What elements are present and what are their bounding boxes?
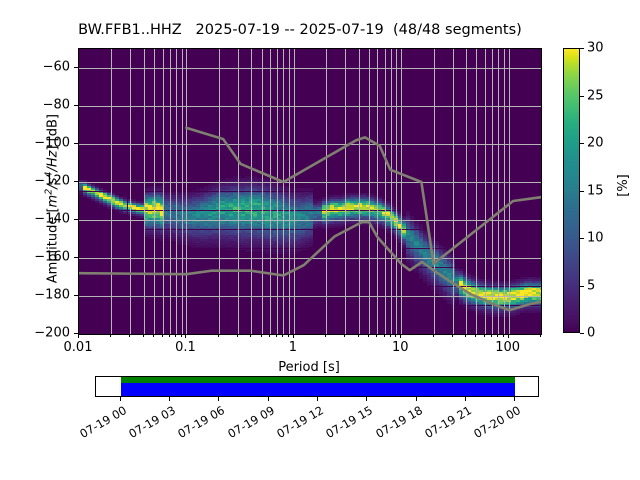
page-title: BW.FFB1..HHZ 2025-07-19 -- 2025-07-19 (4… — [0, 22, 600, 38]
coverage-tick — [120, 397, 121, 401]
coverage-tick — [366, 397, 367, 401]
y-axis-label: Amplitude [m2/s4/Hz] [dB] — [43, 69, 60, 329]
y-axis-label-exp-2: 2 — [43, 189, 54, 195]
x-tick-minor — [325, 334, 326, 337]
colorbar-tick-label: 30 — [587, 41, 604, 56]
coverage-tick-label: 07-20 00 — [463, 403, 524, 446]
coverage-tick — [514, 397, 515, 401]
x-tick-label: 10 — [392, 340, 409, 355]
x-tick-minor — [368, 334, 369, 337]
colorbar-tick-label: 0 — [587, 326, 595, 341]
x-tick-minor — [218, 334, 219, 337]
y-tick — [74, 295, 78, 296]
colorbar-tick — [580, 333, 584, 334]
x-tick-minor — [452, 334, 453, 337]
x-tick-minor — [185, 334, 186, 338]
coverage-tick-label: 07-19 00 — [68, 403, 129, 446]
x-tick-minor — [508, 334, 509, 338]
y-tick — [74, 333, 78, 334]
x-axis-label: Period [s] — [78, 360, 540, 375]
colorbar-tick — [580, 48, 584, 49]
x-tick-minor — [475, 334, 476, 337]
colorbar-tick — [580, 191, 584, 192]
x-tick-minor — [282, 334, 283, 337]
y-tick — [74, 181, 78, 182]
coverage-tick — [169, 397, 170, 401]
x-tick-minor — [465, 334, 466, 337]
x-tick-minor — [288, 334, 289, 337]
x-tick-label: 0.01 — [64, 340, 93, 355]
y-axis-label-hz: /Hz — [46, 151, 61, 172]
x-tick-minor — [390, 334, 391, 337]
colorbar-label: [%] — [616, 174, 631, 197]
x-tick-minor — [78, 334, 79, 338]
coverage-tick — [317, 397, 318, 401]
y-axis-label-mid: /s — [46, 178, 61, 189]
x-tick-minor — [175, 334, 176, 337]
x-tick-minor — [269, 334, 270, 337]
y-axis-label-prefix: Amplitude [ — [46, 207, 61, 283]
x-tick-minor — [384, 334, 385, 337]
x-tick-minor — [491, 334, 492, 337]
noise-model-nhnm — [186, 128, 541, 264]
x-tick-minor — [181, 334, 182, 337]
colorbar-tick-label: 20 — [587, 136, 604, 151]
x-tick-minor — [293, 334, 294, 338]
x-tick-minor — [162, 334, 163, 337]
coverage-tick — [218, 397, 219, 401]
y-tick — [74, 219, 78, 220]
ppsd-axes — [78, 48, 542, 335]
x-tick-minor — [484, 334, 485, 337]
y-tick — [74, 105, 78, 106]
coverage-tick-label: 07-19 06 — [167, 403, 228, 446]
x-tick-minor — [250, 334, 251, 337]
coverage-axes — [95, 376, 539, 397]
x-tick-minor — [276, 334, 277, 337]
colorbar-tick-label: 10 — [587, 231, 604, 246]
colorbar-tick-label: 15 — [587, 183, 604, 198]
colorbar-tick-label: 25 — [587, 88, 604, 103]
coverage-tick — [268, 397, 269, 401]
y-axis-label-exp-4: 4 — [43, 172, 54, 178]
colorbar-tick — [580, 238, 584, 239]
x-tick-minor — [110, 334, 111, 337]
y-axis-label-suffix: ] [dB] — [46, 114, 61, 151]
colorbar: 302520151050 — [563, 48, 580, 333]
colorbar-gradient — [563, 48, 580, 333]
x-tick-minor — [169, 334, 170, 337]
x-tick-minor — [540, 334, 541, 337]
coverage-band-data — [121, 383, 516, 396]
x-tick-minor — [153, 334, 154, 337]
coverage-tick-label: 07-19 15 — [315, 403, 376, 446]
coverage-tick-label: 07-19 09 — [216, 403, 277, 446]
x-tick-minor — [344, 334, 345, 337]
x-tick-minor — [503, 334, 504, 337]
x-tick-minor — [395, 334, 396, 337]
coverage-tick-label: 07-19 18 — [364, 403, 425, 446]
x-tick-label: 1 — [289, 340, 297, 355]
colorbar-tick — [580, 96, 584, 97]
noise-model-curves — [79, 49, 541, 334]
colorbar-tick — [580, 143, 584, 144]
coverage-tick — [416, 397, 417, 401]
x-tick-label: 0.1 — [175, 340, 196, 355]
colorbar-tick — [580, 286, 584, 287]
x-tick-minor — [358, 334, 359, 337]
x-tick-minor — [497, 334, 498, 337]
x-tick-minor — [129, 334, 130, 337]
ppsd-figure: BW.FFB1..HHZ 2025-07-19 -- 2025-07-19 (4… — [0, 0, 640, 480]
y-tick — [74, 67, 78, 68]
x-tick-minor — [433, 334, 434, 337]
y-tick — [74, 143, 78, 144]
x-tick-minor — [376, 334, 377, 337]
x-tick-minor — [261, 334, 262, 337]
coverage-tick — [465, 397, 466, 401]
x-tick-minor — [237, 334, 238, 337]
x-tick-label: 100 — [495, 340, 520, 355]
y-axis-label-unit-m: m — [46, 195, 61, 208]
x-tick-minor — [143, 334, 144, 337]
y-tick — [74, 257, 78, 258]
colorbar-tick-label: 5 — [587, 278, 595, 293]
x-tick-minor — [400, 334, 401, 338]
